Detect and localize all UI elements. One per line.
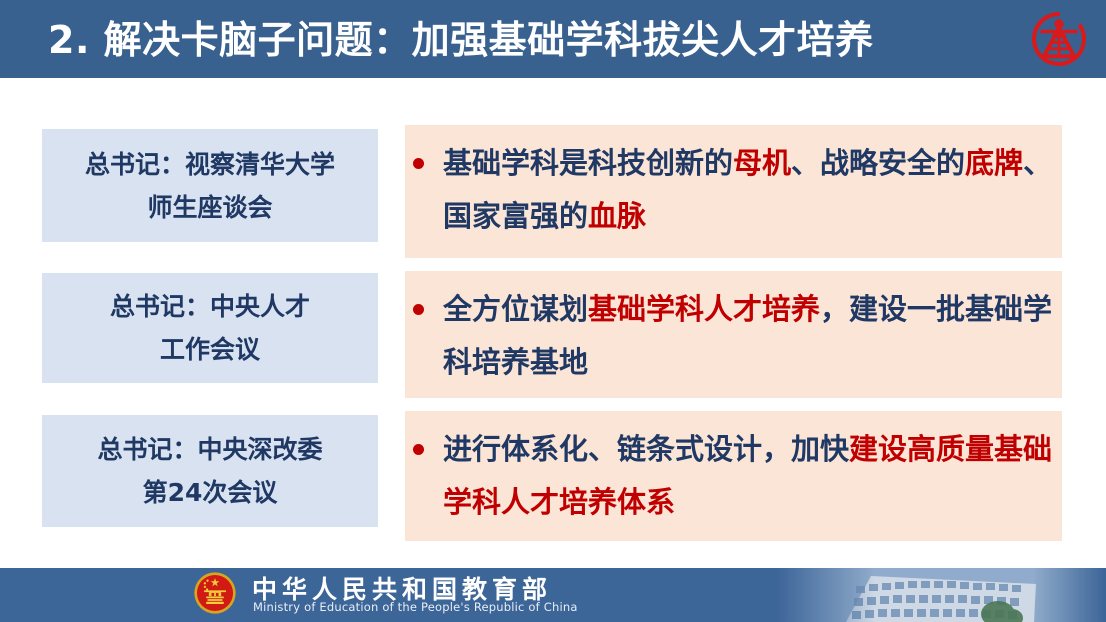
highlighted-text-run: 底牌 bbox=[965, 146, 1023, 180]
content-panel-3: 进行体系化、链条式设计，加快建设高质量基础学科人才培养体系 bbox=[405, 411, 1062, 541]
left-label-box-1: 总书记：视察清华大学 师生座谈会 bbox=[42, 129, 378, 242]
content-panel-2: 全方位谋划基础学科人才培养，建设一批基础学科培养基地 bbox=[405, 271, 1062, 398]
highlighted-text-run: 血脉 bbox=[588, 199, 646, 233]
content-panel-1-text: 基础学科是科技创新的母机、战略安全的底牌、国家富强的血脉 bbox=[424, 125, 1062, 243]
left-label-box-2: 总书记：中央人才 工作会议 bbox=[42, 273, 378, 383]
text-run: 、战略安全的 bbox=[791, 146, 965, 180]
left-box-2-line-2: 工作会议 bbox=[160, 328, 260, 371]
left-box-3-line-2: 第24次会议 bbox=[143, 471, 278, 514]
text-run: 全方位谋划 bbox=[443, 292, 588, 326]
highlighted-text-run: 母机 bbox=[733, 146, 791, 180]
national-emblem-of-china bbox=[193, 571, 237, 615]
page-title: 2. 解决卡脑子问题：加强基础学科拔尖人才培养 bbox=[48, 13, 998, 67]
content-panel-2-text: 全方位谋划基础学科人才培养，建设一批基础学科培养基地 bbox=[424, 271, 1062, 389]
text-run: 进行体系化、链条式设计，加快 bbox=[443, 432, 849, 466]
left-label-box-3: 总书记：中央深改委 第24次会议 bbox=[42, 415, 378, 527]
slide-root: 2. 解决卡脑子问题：加强基础学科拔尖人才培养 总书记：视察清华大学 师生座谈会… bbox=[0, 0, 1106, 622]
left-box-2-line-1: 总书记：中央人才 bbox=[110, 285, 310, 328]
content-panel-3-text: 进行体系化、链条式设计，加快建设高质量基础学科人才培养体系 bbox=[424, 411, 1062, 529]
highlighted-text-run: 基础学科人才培养 bbox=[588, 292, 820, 326]
footer-org-name-en: Ministry of Education of the People's Re… bbox=[253, 600, 578, 614]
bullet-dot-icon bbox=[413, 304, 424, 315]
red-circular-emblem-logo bbox=[1030, 10, 1088, 68]
text-run: 基础学科是科技创新的 bbox=[443, 146, 733, 180]
content-panel-1: 基础学科是科技创新的母机、战略安全的底牌、国家富强的血脉 bbox=[405, 125, 1062, 258]
left-box-1-line-2: 师生座谈会 bbox=[147, 186, 272, 229]
left-box-1-line-1: 总书记：视察清华大学 bbox=[85, 143, 335, 186]
bullet-dot-icon bbox=[413, 444, 424, 455]
left-box-3-line-1: 总书记：中央深改委 bbox=[97, 428, 322, 471]
bullet-dot-icon bbox=[413, 158, 424, 169]
ministry-building-photo bbox=[776, 568, 1106, 622]
